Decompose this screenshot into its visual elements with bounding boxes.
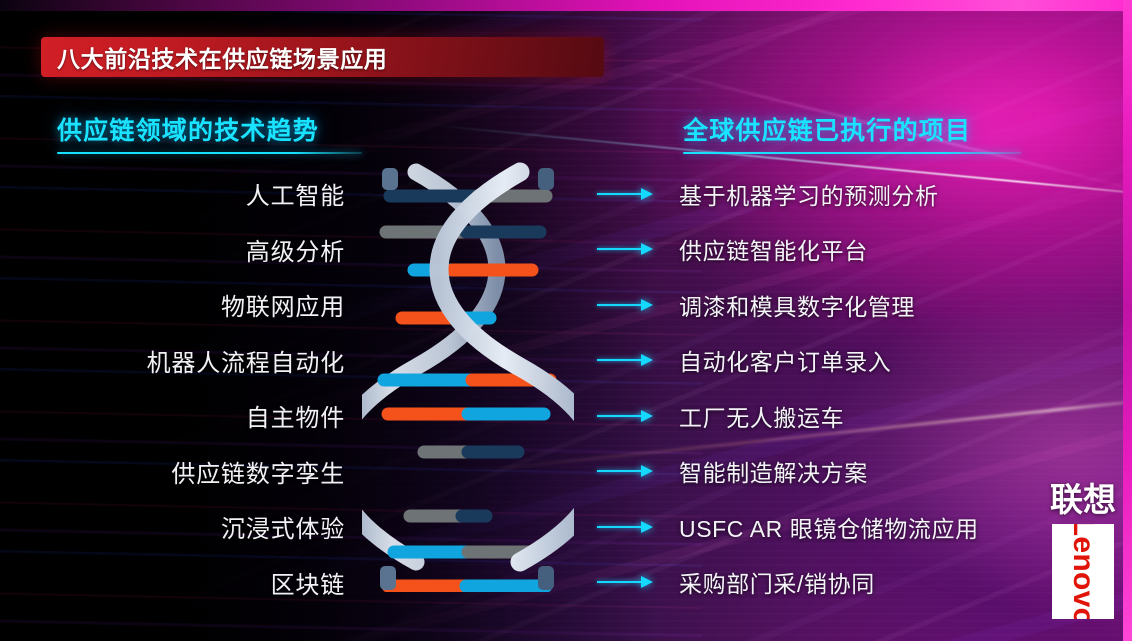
trend-label: 人工智能 [246,176,345,211]
list-item: 智能制造解决方案 [597,444,1117,500]
top-edge-strip [0,0,1132,11]
left-column-header-rule [57,152,362,154]
arrow-right-icon [597,188,655,200]
lenovo-logo-chinese: 联想 [1046,483,1120,517]
left-column-header: 供应链领域的技术趋势 [57,111,362,154]
slide-title-banner: 八大前沿技术在供应链场景应用 [41,37,604,77]
list-item: USFC AR 眼镜仓储物流应用 [597,499,1117,555]
list-item: 自主物件 [20,388,345,444]
arrow-right-icon [597,243,655,255]
arrow-right-icon [597,299,655,311]
right-column-header: 全球供应链已执行的项目 [683,111,1021,154]
page-title: 八大前沿技术在供应链场景应用 [41,40,387,74]
trend-label: 机器人流程自动化 [147,343,345,378]
lenovo-logo: 联想 Lenovo [1046,483,1120,619]
project-label: 采购部门采/销协同 [679,565,875,599]
list-item: 供应链数字孪生 [20,444,345,500]
trend-label: 自主物件 [246,398,345,433]
project-label: 自动化客户订单录入 [679,343,891,377]
list-item: 基于机器学习的预测分析 [597,166,1117,222]
list-item: 工厂无人搬运车 [597,388,1117,444]
lenovo-logo-wordmark: Lenovo [1066,524,1100,619]
project-label: 供应链智能化平台 [679,232,868,266]
slide-canvas: 八大前沿技术在供应链场景应用 供应链领域的技术趋势 全球供应链已执行的项目 人工… [0,0,1132,641]
list-item: 机器人流程自动化 [20,333,345,389]
list-item: 调漆和模具数字化管理 [597,277,1117,333]
right-column-header-rule [683,152,1021,154]
project-label: USFC AR 眼镜仓储物流应用 [679,510,979,544]
arrow-right-icon [597,465,655,477]
technology-trend-list: 人工智能 高级分析 物联网应用 机器人流程自动化 自主物件 供应链数字孪生 沉浸… [20,166,345,610]
list-item: 采购部门采/销协同 [597,555,1117,611]
trend-label: 区块链 [271,565,345,600]
list-item: 物联网应用 [20,277,345,333]
project-label: 调漆和模具数字化管理 [679,288,915,322]
project-label: 基于机器学习的预测分析 [679,177,939,211]
trend-label: 沉浸式体验 [221,509,345,544]
trend-label: 供应链数字孪生 [171,454,345,489]
list-item: 高级分析 [20,222,345,278]
list-item: 人工智能 [20,166,345,222]
list-item: 区块链 [20,555,345,611]
arrow-right-icon [597,354,655,366]
list-item: 自动化客户订单录入 [597,333,1117,389]
right-column-header-label: 全球供应链已执行的项目 [683,111,1021,147]
trend-label: 物联网应用 [221,287,345,322]
left-column-header-label: 供应链领域的技术趋势 [57,111,362,147]
arrow-right-icon [597,521,655,533]
executed-project-list: 基于机器学习的预测分析 供应链智能化平台 调漆和模具数字化管理 自动化客户订单录… [597,166,1117,610]
lenovo-logo-box: Lenovo [1052,524,1114,619]
project-label: 智能制造解决方案 [679,454,868,488]
list-item: 供应链智能化平台 [597,222,1117,278]
right-edge-strip [1123,0,1132,641]
arrow-right-icon [597,576,655,588]
arrow-right-icon [597,410,655,422]
project-label: 工厂无人搬运车 [679,399,844,433]
list-item: 沉浸式体验 [20,499,345,555]
trend-label: 高级分析 [246,232,345,267]
dna-helix-graphic [362,162,574,592]
